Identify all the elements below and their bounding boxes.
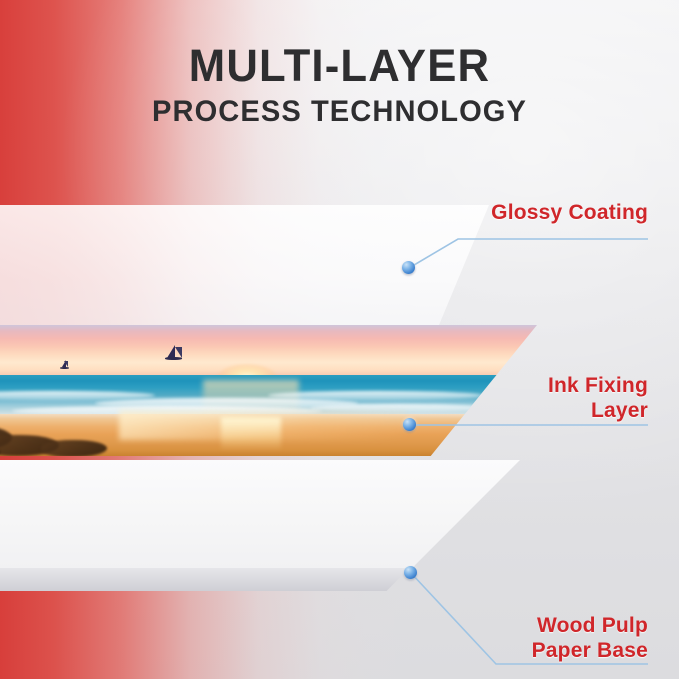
page-subtitle: PROCESS TECHNOLOGY: [10, 95, 669, 129]
page-title: MULTI-LAYER: [10, 42, 669, 90]
glossy-coating-slab[interactable]: [0, 205, 489, 342]
heading-block: MULTI-LAYER PROCESS TECHNOLOGY: [0, 42, 679, 129]
wave-crest: [268, 391, 483, 400]
diagram-canvas: MULTI-LAYER PROCESS TECHNOLOGY: [0, 0, 679, 679]
sun-reflection: [221, 417, 281, 451]
wave-crest: [310, 404, 489, 412]
wave-crest: [0, 391, 155, 400]
rock: [41, 440, 107, 456]
